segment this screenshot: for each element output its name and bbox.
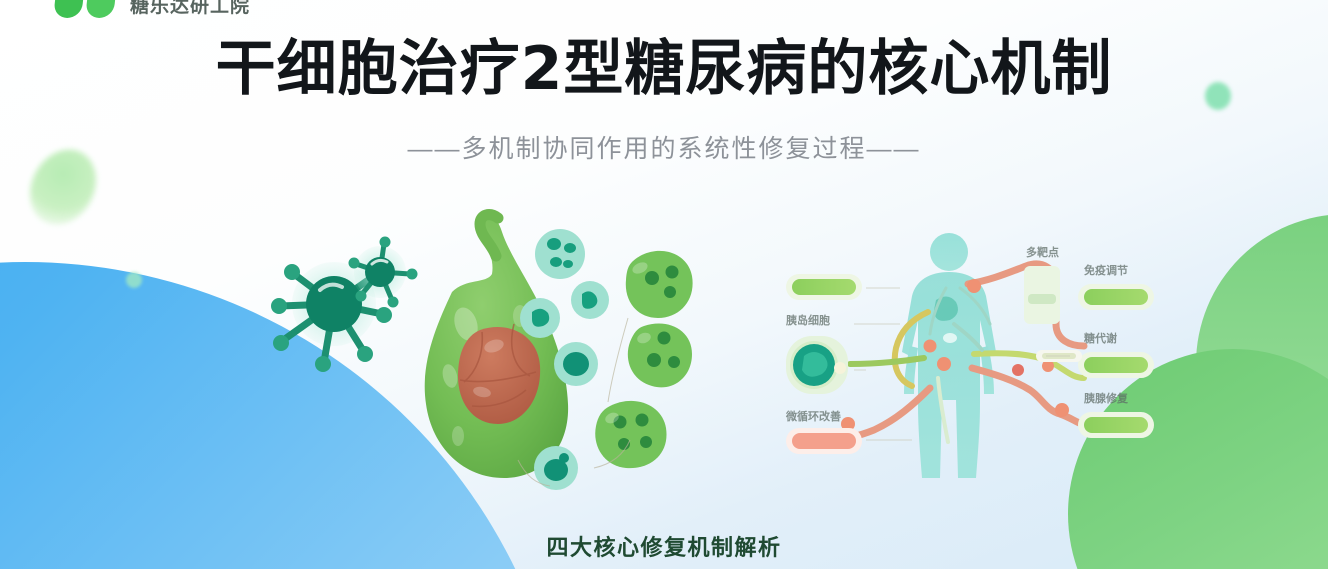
islet-chip bbox=[786, 336, 848, 394]
label-pill-top-left bbox=[786, 274, 862, 300]
panel-top-center bbox=[1024, 266, 1060, 324]
label-pill-bottom-left bbox=[786, 428, 862, 454]
logo-wordmark: 糖乐达研工院 bbox=[130, 0, 250, 18]
label-pill-mid-right bbox=[1078, 352, 1154, 378]
label-top-center: 多靶点 bbox=[1026, 245, 1059, 259]
label-pill-bottom-right bbox=[1078, 412, 1154, 438]
immune-cell-3 bbox=[520, 298, 560, 338]
section-heading: 四大核心修复机制解析 bbox=[0, 530, 1328, 562]
label-bottom-right: 胰腺修复 bbox=[1083, 391, 1129, 405]
stem-cell-2 bbox=[628, 324, 692, 388]
label-top-right: 免疫调节 bbox=[1084, 263, 1128, 277]
green-dot-arc-icon bbox=[126, 272, 142, 288]
page-title: 干细胞治疗2型糖尿病的核心机制 bbox=[0, 37, 1328, 102]
immune-cell-2 bbox=[571, 281, 609, 319]
brand-logo: 糖乐达研工院 bbox=[55, 0, 250, 18]
page-subtitle: ——多机制协同作用的系统性修复过程—— bbox=[0, 129, 1328, 165]
immune-cell-1 bbox=[535, 229, 585, 279]
organ-pancreas-icon bbox=[943, 333, 957, 343]
label-mid-right: 糖代谢 bbox=[1084, 331, 1117, 345]
stem-cell-3 bbox=[595, 401, 666, 468]
stem-cell-1 bbox=[626, 251, 693, 318]
human-body-mechanism-diagram: 胰岛细胞 微循环改善 多靶点 免疫调节 糖代谢 胰腺修复 bbox=[778, 228, 1164, 480]
vessel-node-red bbox=[1012, 364, 1024, 376]
label-top-left: 胰岛细胞 bbox=[785, 313, 830, 327]
double-leaf-icon bbox=[55, 0, 121, 18]
pancreas-and-cells-illustration bbox=[268, 196, 698, 504]
immune-cell-4 bbox=[554, 342, 598, 386]
green-circle-right bbox=[1196, 214, 1328, 514]
label-pill-top-right bbox=[1078, 284, 1154, 310]
label-bottom-left: 微循环改善 bbox=[785, 409, 841, 423]
poster-canvas: 糖乐达研工院 干细胞治疗2型糖尿病的核心机制 ——多机制协同作用的系统性修复过程… bbox=[0, 0, 1328, 569]
